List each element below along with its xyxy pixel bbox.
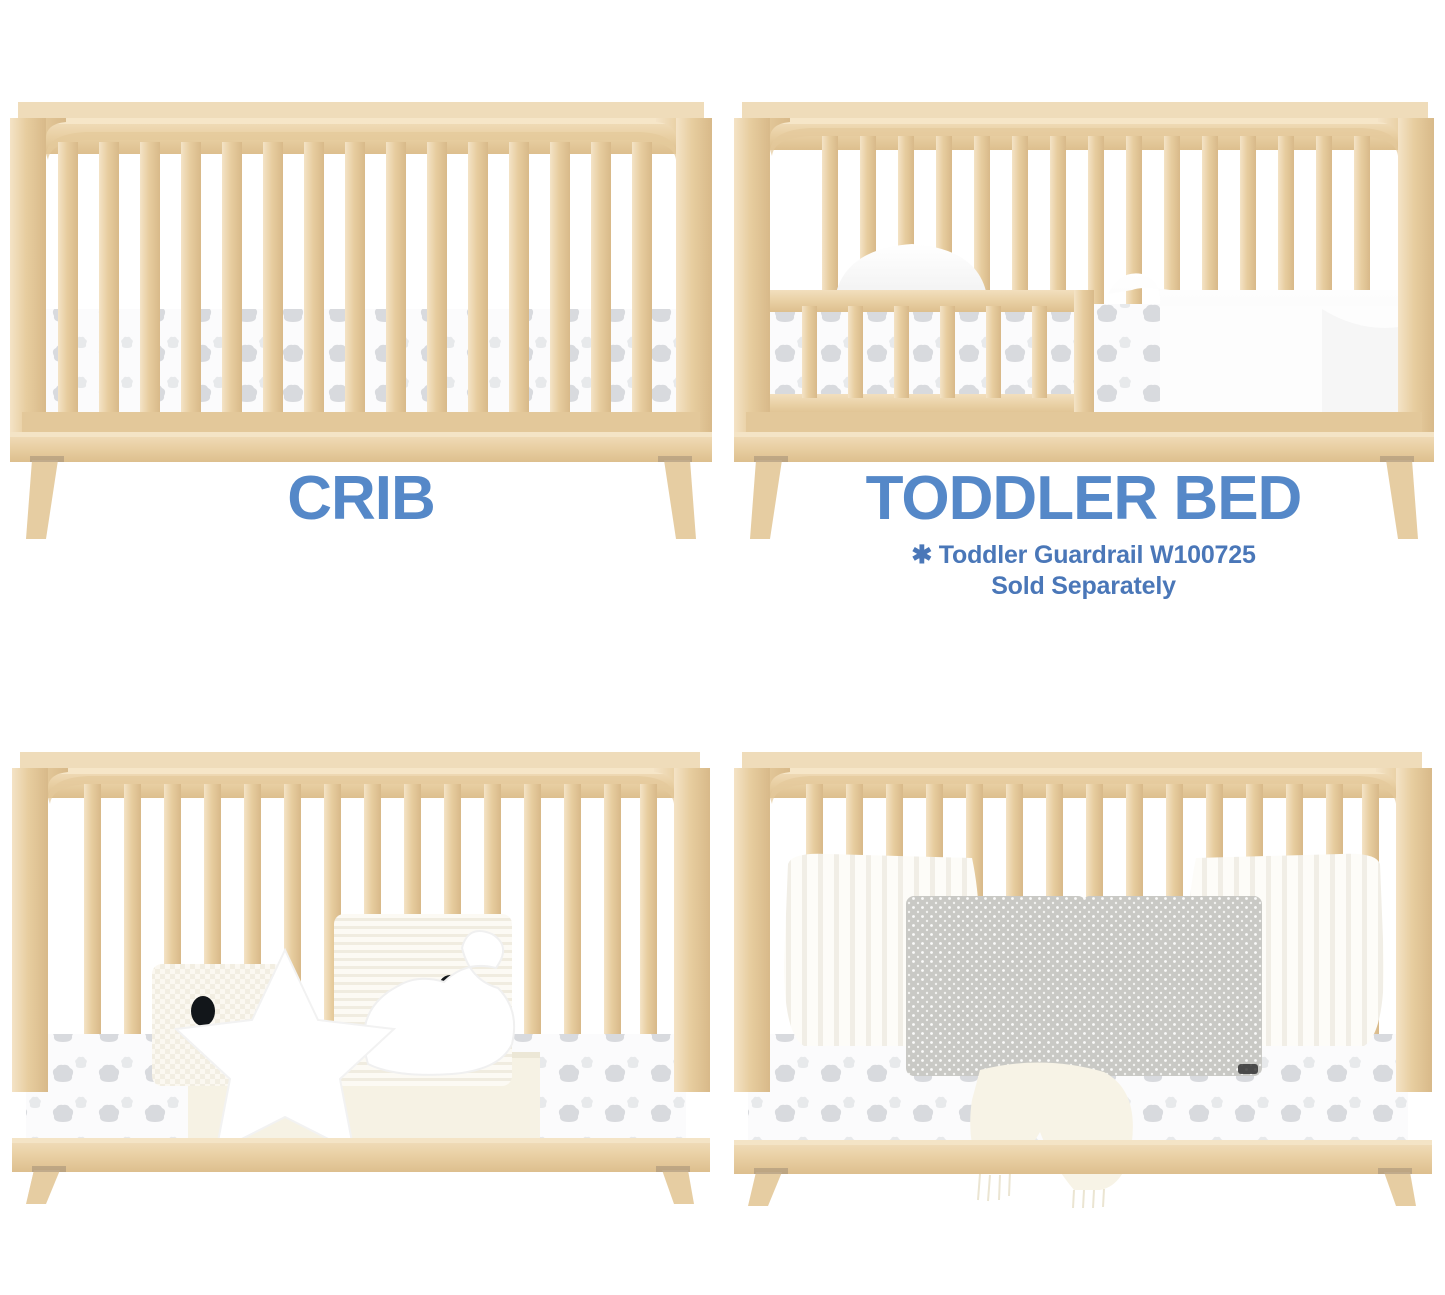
crib-svg xyxy=(0,0,722,648)
panel-crib[interactable]: CRIB xyxy=(0,0,722,648)
sofa-leg-right xyxy=(1384,1172,1416,1206)
crib-illustration xyxy=(0,0,722,648)
gray-pillow-right xyxy=(1082,896,1262,1076)
panel-title: CRIB xyxy=(0,468,722,530)
daybed-leg-left xyxy=(26,1170,60,1204)
gray-pillow-left xyxy=(906,896,1086,1076)
panel-sofa[interactable]: SOFA ✱Daybed/Sofa Rail Included xyxy=(722,648,1445,1295)
caption-toddler-bed: TODDLER BED ✱ Toddler Guardrail W100725 … xyxy=(722,468,1445,603)
panel-subtitle-line1: ✱ Toddler Guardrail W100725 xyxy=(722,540,1445,571)
panel-title: TODDLER BED xyxy=(722,468,1445,530)
daybed-leg-right xyxy=(662,1170,694,1204)
sofa-svg xyxy=(722,648,1445,1295)
daybed-svg xyxy=(0,648,722,1295)
pillow-tag xyxy=(1238,1064,1258,1074)
sofa-illustration xyxy=(722,648,1445,1295)
caption-crib: CRIB xyxy=(0,468,722,530)
panel-subtitle-line2: Sold Separately xyxy=(722,571,1445,602)
panel-daybed[interactable]: DAYBED ✱Daybed/Sofa Rail Included xyxy=(0,648,722,1295)
panel-subtitle: ✱ Toddler Guardrail W100725 Sold Separat… xyxy=(722,540,1445,603)
daybed-illustration xyxy=(0,648,722,1295)
sofa-leg-left xyxy=(748,1172,782,1206)
configuration-grid: CRIB xyxy=(0,0,1445,1295)
pillow-eye-left xyxy=(191,996,215,1026)
panel-toddler-bed[interactable]: TODDLER BED ✱ Toddler Guardrail W100725 … xyxy=(722,0,1445,648)
product-configurations-page: { "theme": { "accent_blue": "#5588c8", "… xyxy=(0,0,1445,1295)
